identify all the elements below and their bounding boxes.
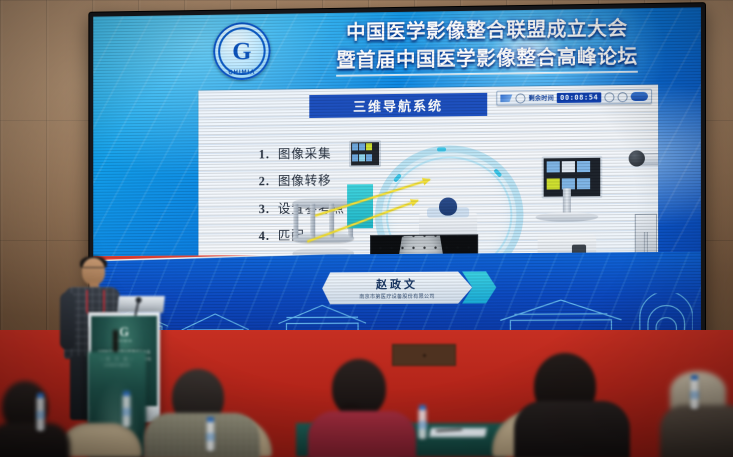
led-pixel-grid	[93, 7, 701, 360]
audience-member	[506, 353, 636, 457]
banner-line1: — 合 · 力 · 远 —	[88, 356, 146, 361]
audience-shirt-pattern	[144, 413, 260, 457]
audience-member	[0, 377, 64, 457]
audience-member	[306, 359, 416, 457]
water-bottle	[206, 421, 215, 451]
banner-line2: 2018年6月 中国 南京	[88, 363, 146, 367]
screenshot-root: G CHIMIA 中国医学影像整合联盟成立大会 暨首届中国医学影像整合高峰论坛 …	[0, 0, 733, 457]
presenter-glasses	[83, 267, 104, 273]
water-bottle	[122, 395, 131, 427]
presenter-arm	[60, 292, 75, 350]
led-screen: G CHIMIA 中国医学影像整合联盟成立大会 暨首届中国医学影像整合高峰论坛 …	[93, 7, 701, 360]
podium-logo-mark: G	[119, 325, 129, 338]
water-bottle	[36, 397, 45, 431]
water-bottle	[418, 409, 427, 439]
audience-shoulders	[660, 405, 733, 457]
audience-shoulders	[514, 401, 630, 457]
led-screen-frame: G CHIMIA 中国医学影像整合联盟成立大会 暨首届中国医学影像整合高峰论坛 …	[89, 3, 705, 364]
podium-logo-word: CHIMIA	[116, 339, 133, 343]
audience-member	[146, 369, 256, 457]
audience-shoulders	[0, 423, 70, 457]
water-bottle	[690, 379, 699, 409]
chair	[58, 423, 142, 457]
audience-top	[308, 411, 416, 457]
